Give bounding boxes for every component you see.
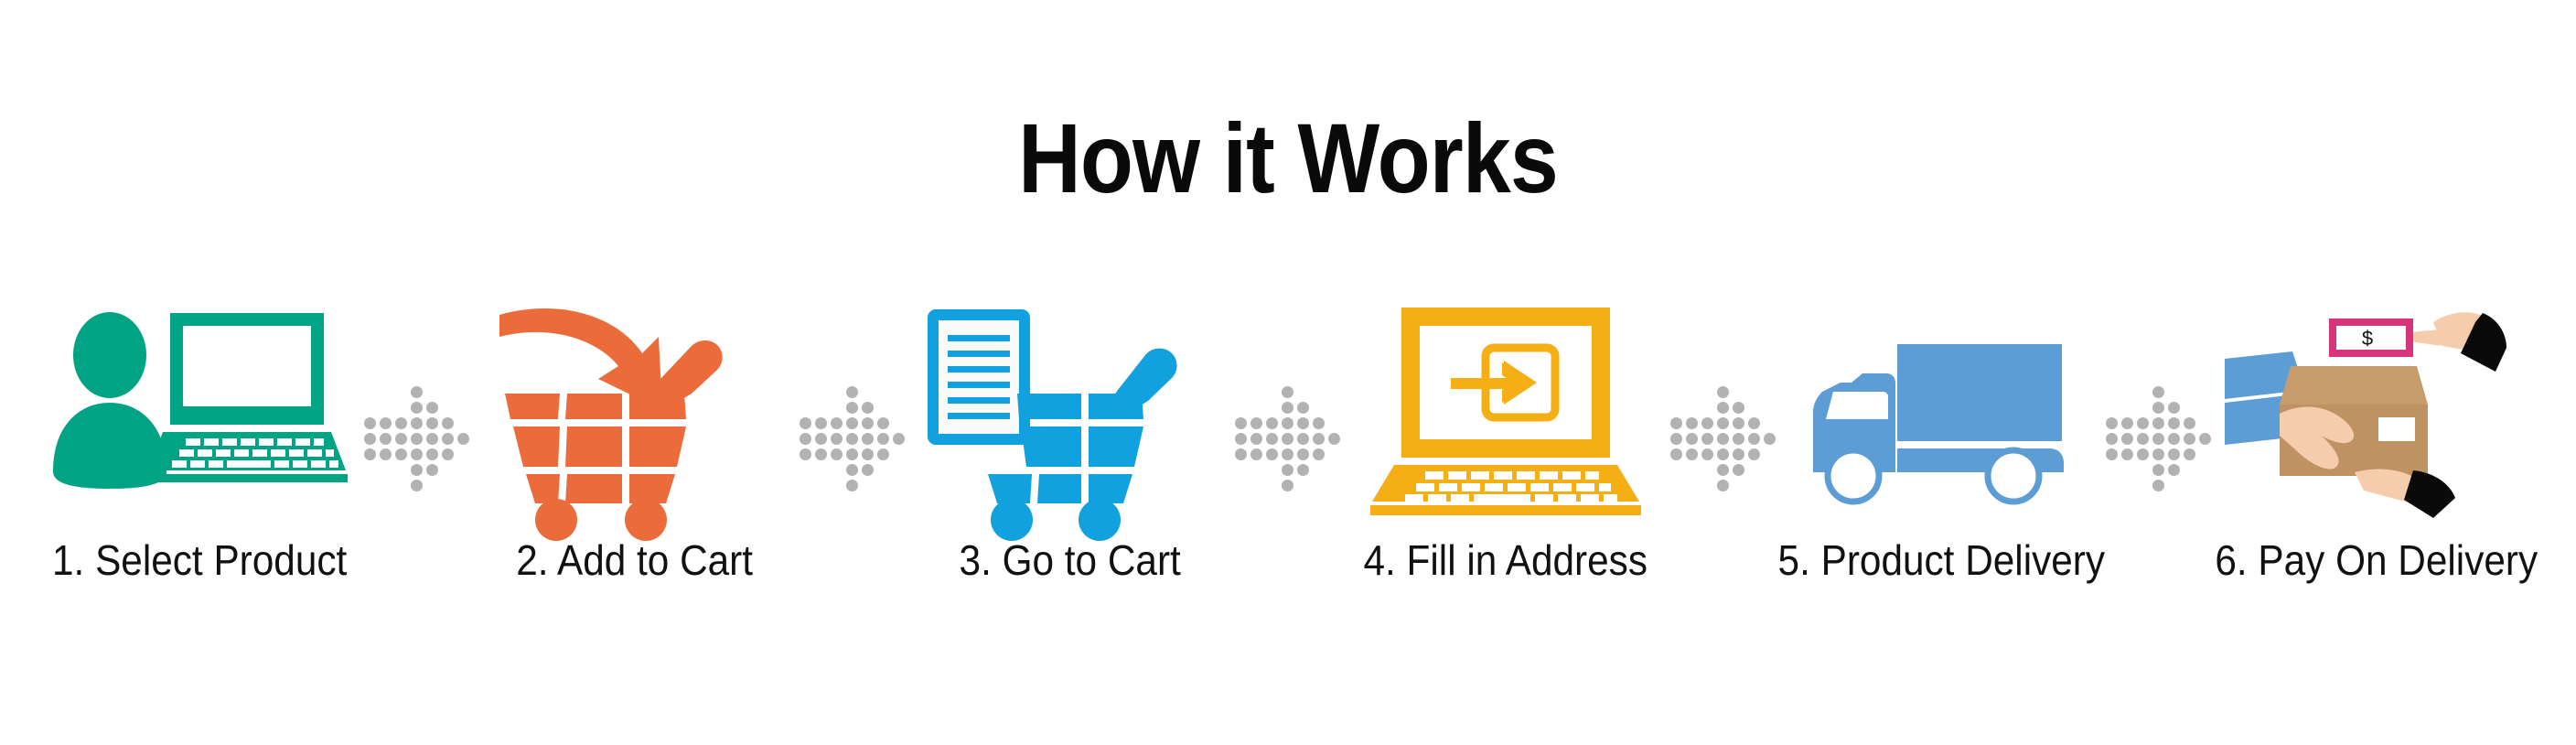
step-1-label: 1. Select Product [52, 536, 347, 584]
step-4-fill-in-address[interactable]: 4. Fill in Address [1327, 302, 1684, 641]
currency-symbol: $ [2362, 327, 2373, 350]
laptop-login-icon [1350, 302, 1661, 531]
step-4-label: 4. Fill in Address [1364, 536, 1648, 584]
person-laptop-icon [44, 302, 355, 531]
arrow-dots-1-icon [378, 302, 456, 641]
page-title: How it Works [155, 108, 2421, 209]
cart-with-arrow-icon [479, 302, 790, 531]
step-1-select-product[interactable]: 1. Select Product [21, 302, 378, 641]
arrow-dots-2-icon [813, 302, 892, 641]
infographic-page: How it Works [0, 0, 2576, 745]
document-cart-icon [915, 302, 1226, 531]
arrow-dots-3-icon [1249, 302, 1327, 641]
banknote: $ [2329, 319, 2413, 357]
delivery-truck-icon [1786, 302, 2097, 531]
arrow-dots-5-icon [2120, 302, 2198, 641]
step-5-product-delivery[interactable]: 5. Product Delivery [1763, 302, 2120, 641]
steps-row: 1. Select Product [0, 302, 2576, 641]
step-2-label: 2. Add to Cart [517, 536, 754, 584]
step-3-label: 3. Go to Cart [960, 536, 1181, 584]
hands-box-money-icon: $ [2221, 302, 2532, 531]
step-5-label: 5. Product Delivery [1777, 536, 2105, 584]
step-3-go-to-cart[interactable]: 3. Go to Cart [892, 302, 1249, 641]
step-2-add-to-cart[interactable]: 2. Add to Cart [456, 302, 813, 641]
step-6-label: 6. Pay On Delivery [2216, 536, 2538, 584]
arrow-dots-4-icon [1684, 302, 1763, 641]
step-6-pay-on-delivery[interactable]: $ 6. Pay On Delivery [2198, 302, 2555, 641]
